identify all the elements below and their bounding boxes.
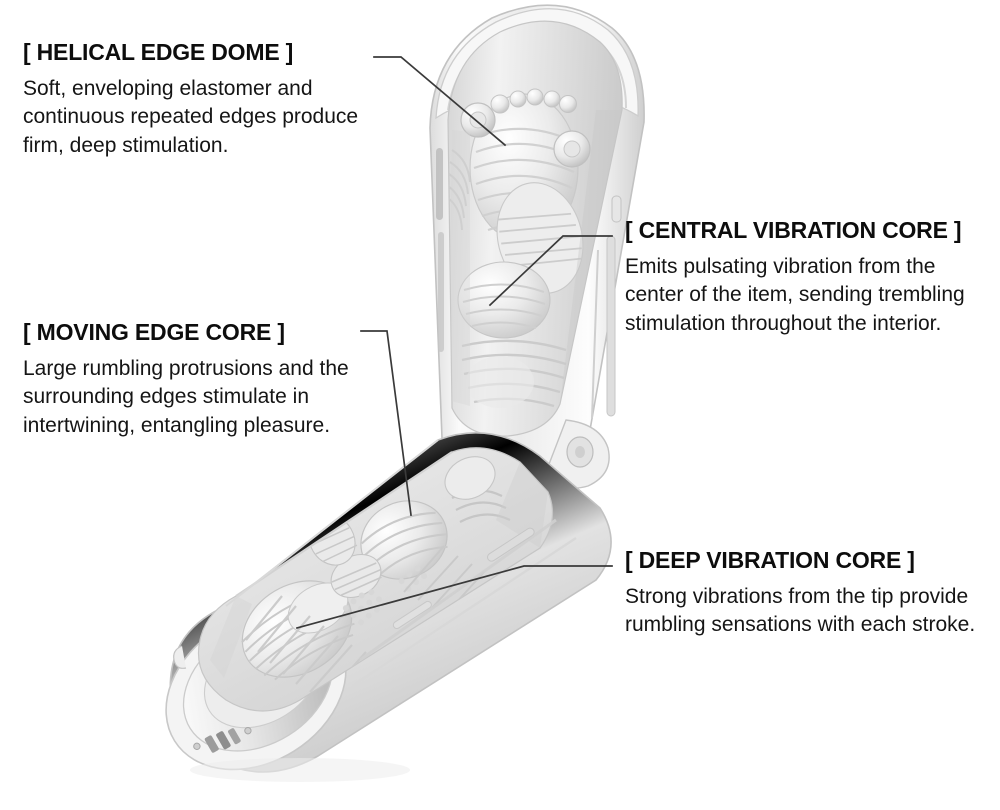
callout-heading-moving-edge-core: [ MOVING EDGE CORE ]	[23, 320, 373, 344]
upper-lid	[430, 5, 644, 474]
callout-heading-deep-vibration-core: [ DEEP VIBRATION CORE ]	[625, 548, 985, 572]
callout-moving-edge-core: [ MOVING EDGE CORE ] Large rumbling prot…	[23, 320, 373, 440]
callout-body-central-vibration-core: Emits pulsating vibration from the cente…	[625, 253, 985, 338]
callout-helical-edge-dome: [ HELICAL EDGE DOME ] Soft, enveloping e…	[23, 40, 383, 160]
callout-deep-vibration-core: [ DEEP VIBRATION CORE ] Strong vibration…	[625, 548, 985, 640]
callout-body-moving-edge-core: Large rumbling protrusions and the surro…	[23, 355, 373, 440]
callout-body-helical-edge-dome: Soft, enveloping elastomer and continuou…	[23, 75, 383, 160]
callout-body-deep-vibration-core: Strong vibrations from the tip provide r…	[625, 583, 985, 640]
lower-case	[136, 433, 611, 802]
diagram-canvas: [ HELICAL EDGE DOME ] Soft, enveloping e…	[0, 0, 1000, 810]
callout-heading-central-vibration-core: [ CENTRAL VIBRATION CORE ]	[625, 218, 985, 242]
callout-heading-helical-edge-dome: [ HELICAL EDGE DOME ]	[23, 40, 383, 64]
callout-central-vibration-core: [ CENTRAL VIBRATION CORE ] Emits pulsati…	[625, 218, 985, 338]
